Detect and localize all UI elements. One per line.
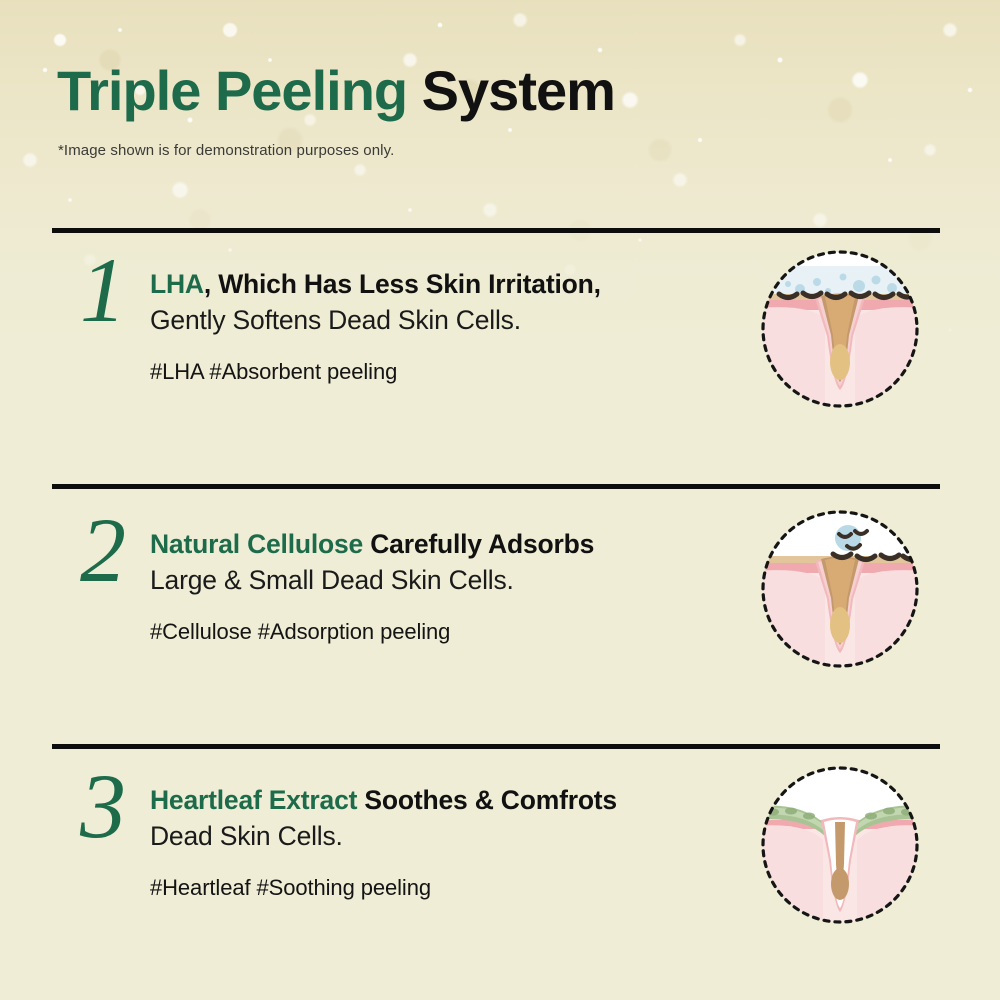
step-headline-rest-1: , Which Has Less Skin Irritation, xyxy=(204,269,601,299)
step-numeral-3: 3 xyxy=(58,760,148,852)
step-numeral-1: 1 xyxy=(58,244,148,336)
divider-middle xyxy=(52,484,940,489)
step-row-3: 3 Heartleaf Extract Soothes & Comfrots D… xyxy=(0,768,1000,968)
step-numeral-2: 2 xyxy=(58,504,148,596)
step-tags-1: #LHA #Absorbent peeling xyxy=(150,359,740,385)
step-headline-highlight-1: LHA xyxy=(150,269,204,299)
page-title-black: System xyxy=(422,59,615,122)
skin-pore-cellulose-adsorption-icon xyxy=(755,504,925,674)
divider-bottom xyxy=(52,744,940,749)
step-subline-2: Large & Small Dead Skin Cells. xyxy=(150,562,740,598)
step-copy-2: Natural Cellulose Carefully Adsorbs Larg… xyxy=(150,526,740,645)
page-title: Triple Peeling System xyxy=(57,62,615,121)
step-tags-2: #Cellulose #Adsorption peeling xyxy=(150,619,740,645)
step-headline-2: Natural Cellulose Carefully Adsorbs xyxy=(150,526,740,562)
step-copy-1: LHA, Which Has Less Skin Irritation, Gen… xyxy=(150,266,740,385)
skin-pore-dead-cells-icon xyxy=(755,244,925,414)
page-title-green: Triple Peeling xyxy=(57,59,407,122)
disclaimer-text: *Image shown is for demonstration purpos… xyxy=(58,142,394,159)
step-headline-rest-3: Soothes & Comfrots xyxy=(357,785,617,815)
skin-pore-soothed-icon xyxy=(755,760,925,930)
step-subline-1: Gently Softens Dead Skin Cells. xyxy=(150,302,740,338)
step-headline-1: LHA, Which Has Less Skin Irritation, xyxy=(150,266,740,302)
step-headline-highlight-3: Heartleaf Extract xyxy=(150,785,357,815)
step-copy-3: Heartleaf Extract Soothes & Comfrots Dea… xyxy=(150,782,740,901)
divider-top xyxy=(52,228,940,233)
step-subline-3: Dead Skin Cells. xyxy=(150,818,740,854)
content-layer: Triple Peeling System *Image shown is fo… xyxy=(0,0,1000,1000)
step-row-1: 1 LHA, Which Has Less Skin Irritation, G… xyxy=(0,252,1000,452)
step-headline-3: Heartleaf Extract Soothes & Comfrots xyxy=(150,782,740,818)
step-tags-3: #Heartleaf #Soothing peeling xyxy=(150,875,740,901)
infographic-page: Triple Peeling System *Image shown is fo… xyxy=(0,0,1000,1000)
step-headline-highlight-2: Natural Cellulose xyxy=(150,529,363,559)
step-row-2: 2 Natural Cellulose Carefully Adsorbs La… xyxy=(0,512,1000,712)
step-headline-rest-2: Carefully Adsorbs xyxy=(363,529,594,559)
